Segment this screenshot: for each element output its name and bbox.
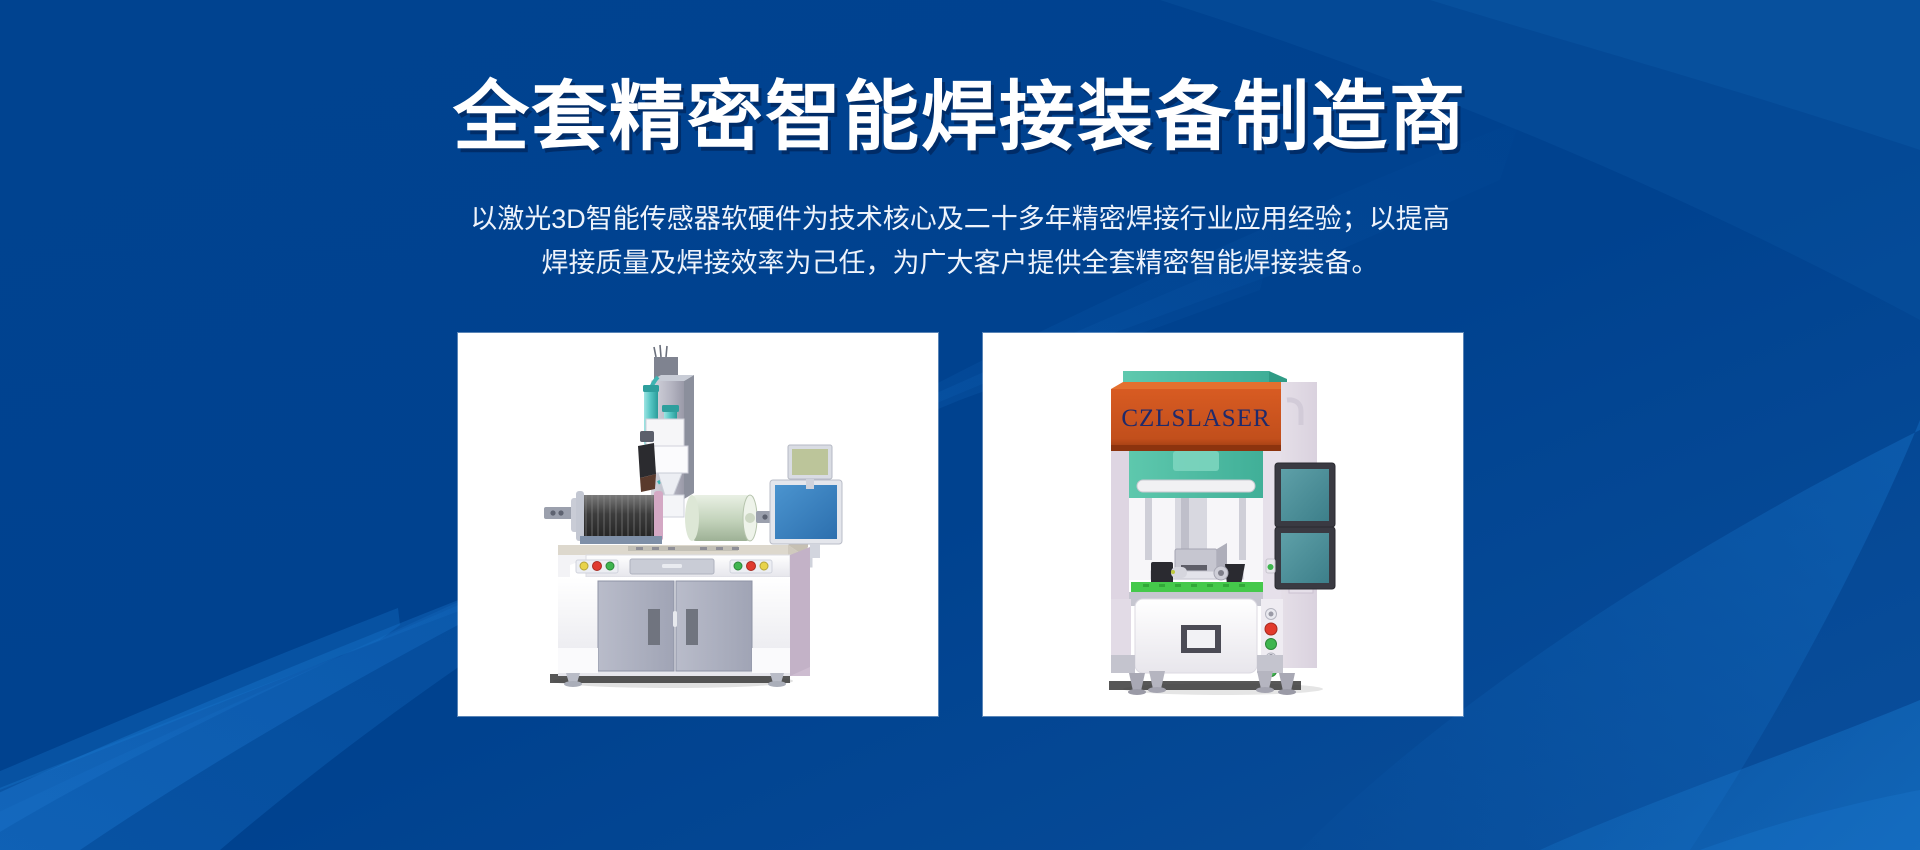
hero-section: 全套精密智能焊接装备制造商 以激光3D智能传感器软硬件为技术核心及二十多年精密焊… (0, 0, 1920, 850)
hero-subtitle-line-1: 以激光3D智能传感器软硬件为技术核心及二十多年精密焊接行业应用经验；以提高 (460, 198, 1460, 242)
product-image-gallery: CZLSLASER (458, 333, 1463, 716)
cabinet-laser-welding-machine-illustration: CZLSLASER (983, 333, 1463, 716)
machine-brand-label: CZLSLASER (1121, 405, 1270, 432)
precision-laser-welding-machine-illustration (458, 333, 938, 716)
hero-subtitle-line-2: 焊接质量及焊接效率为己任，为广大客户提供全套精密智能焊接装备。 (460, 242, 1460, 286)
hero-subtitle: 以激光3D智能传感器软硬件为技术核心及二十多年精密焊接行业应用经验；以提高 焊接… (460, 198, 1460, 285)
page-title: 全套精密智能焊接装备制造商 (453, 78, 1467, 158)
product-card-right[interactable]: CZLSLASER (983, 333, 1463, 716)
product-card-left[interactable] (458, 333, 938, 716)
